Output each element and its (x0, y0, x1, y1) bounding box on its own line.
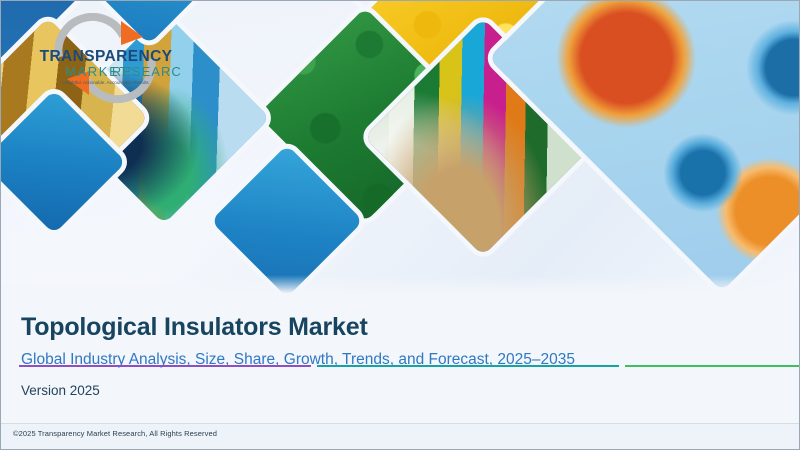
accent-rule-purple (19, 365, 311, 367)
collage-bottom-fade (1, 275, 800, 301)
logo-tagline: Insightful. Actionable. Accountable Resu… (62, 80, 150, 85)
accent-rule-teal (317, 365, 619, 367)
cover-footer: ©2025 Transparency Market Research, All … (1, 423, 800, 449)
accent-rule-green (625, 365, 800, 367)
page-title: Topological Insulators Market (21, 313, 368, 342)
cover-text-block: Topological Insulators Market Global Ind… (1, 301, 800, 425)
logo-wordmark-line1: TRANSPARENCY (40, 48, 173, 65)
logo-wordmark-line3: RESEARCH (112, 64, 181, 79)
version-label: Version 2025 (21, 383, 100, 398)
report-cover-page: TRANSPARENCY MARKET TM RESEARCH Insightf… (0, 0, 800, 450)
copyright-notice: ©2025 Transparency Market Research, All … (13, 429, 217, 438)
transparency-market-research-logo[interactable]: TRANSPARENCY MARKET TM RESEARCH Insightf… (31, 13, 181, 105)
